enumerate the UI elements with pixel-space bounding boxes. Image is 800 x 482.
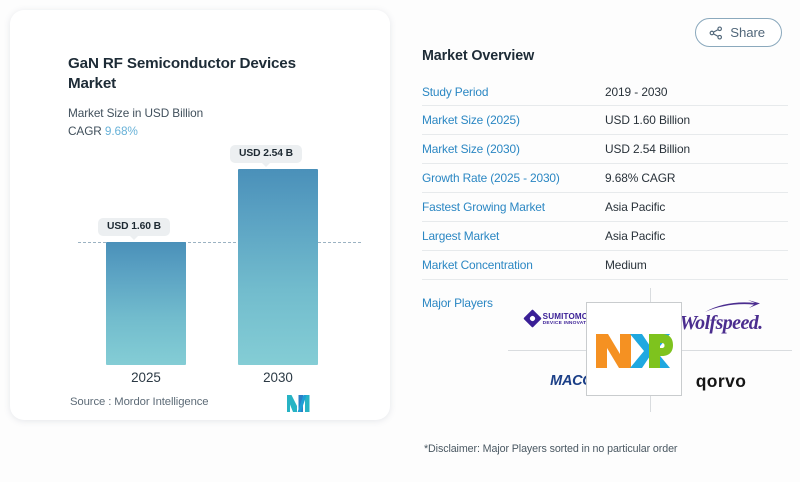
bar-label-2025: USD 1.60 B [98,218,170,236]
row-key: Largest Market [422,229,605,243]
row-key: Growth Rate (2025 - 2030) [422,171,605,185]
source-text: Source : Mordor Intelligence [70,396,208,408]
table-row: Study Period 2019 - 2030 [422,77,788,106]
qorvo-wordmark: qorvo [696,371,747,392]
row-key: Fastest Growing Market [422,200,605,214]
panel-title: Market Overview [422,48,788,64]
table-row: Largest Market Asia Pacific [422,222,788,251]
table-row: Market Size (2025) USD 1.60 Billion [422,106,788,135]
chart-cagr: CAGR 9.68% [68,124,138,138]
disclaimer-text: *Disclaimer: Major Players sorted in no … [424,443,677,455]
wolfspeed-wordmark: Wolfspeed. [679,312,762,335]
row-key: Market Size (2030) [422,142,605,156]
major-players-logo-grid: SUMITOMO ELECTRIC DEVICE INNOVATIONS Wol… [508,288,792,412]
market-overview-panel: Market Overview Study Period 2019 - 2030… [422,48,788,310]
mordor-intelligence-logo [287,395,313,412]
table-row: Growth Rate (2025 - 2030) 9.68% CAGR [422,164,788,193]
cagr-label: CAGR [68,124,102,138]
row-value: Asia Pacific [605,229,788,243]
nxp-wordmark-icon [594,326,674,372]
share-button-label: Share [730,25,765,40]
bar-2030[interactable] [238,169,318,365]
x-tick-2030: 2030 [238,370,318,385]
bar-2025[interactable] [106,242,186,365]
x-tick-2025: 2025 [106,370,186,385]
sumitomo-diamond-icon [523,310,541,328]
wolfspeed-arrow-icon [703,300,761,313]
cagr-value: 9.68% [105,124,138,138]
table-row: Fastest Growing Market Asia Pacific [422,193,788,222]
overview-table: Study Period 2019 - 2030 Market Size (20… [422,77,788,280]
row-value: Medium [605,258,788,272]
player-logo-nxp [586,302,682,396]
share-button[interactable]: Share [695,18,782,47]
row-value: USD 2.54 Billion [605,142,788,156]
row-key: Study Period [422,85,605,99]
market-overview-page: GaN RF Semiconductor Devices Market Mark… [0,0,800,482]
row-value: Asia Pacific [605,200,788,214]
share-nodes-icon [709,26,723,40]
bar-chart-plot: USD 1.60 B USD 2.54 B 2025 2030 [68,150,363,365]
chart-title: GaN RF Semiconductor Devices Market [68,54,318,94]
row-key: Market Size (2025) [422,113,605,127]
row-key: Market Concentration [422,258,605,272]
table-row: Market Concentration Medium [422,251,788,280]
row-value: 2019 - 2030 [605,85,788,99]
chart-subtitle: Market Size in USD Billion [68,106,203,120]
row-value: USD 1.60 Billion [605,113,788,127]
bar-label-2030: USD 2.54 B [230,145,302,163]
chart-card: GaN RF Semiconductor Devices Market Mark… [10,10,390,420]
table-row: Market Size (2030) USD 2.54 Billion [422,135,788,164]
row-value: 9.68% CAGR [605,171,788,185]
